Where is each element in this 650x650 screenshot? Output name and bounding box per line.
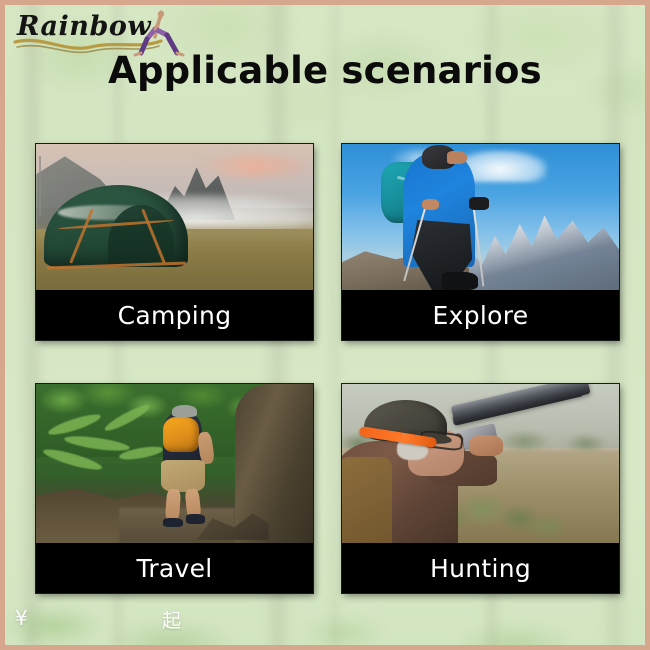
price-suffix: 起 bbox=[162, 606, 181, 633]
currency-symbol: ¥ bbox=[15, 606, 28, 630]
scenario-card-hunting[interactable]: Hunting bbox=[342, 384, 619, 593]
card-caption-explore: Explore bbox=[342, 290, 619, 340]
card-caption-hunting: Hunting bbox=[342, 543, 619, 593]
scenario-grid: Camping Explore bbox=[36, 144, 619, 593]
hunting-photo bbox=[342, 384, 619, 543]
scenario-card-camping[interactable]: Camping bbox=[36, 144, 313, 340]
scenario-card-explore[interactable]: Explore bbox=[342, 144, 619, 340]
camping-photo bbox=[36, 144, 313, 290]
travel-photo bbox=[36, 384, 313, 543]
card-caption-camping: Camping bbox=[36, 290, 313, 340]
card-caption-travel: Travel bbox=[36, 543, 313, 593]
scenario-card-travel[interactable]: Travel bbox=[36, 384, 313, 593]
page-title: Applicable scenarios bbox=[5, 49, 645, 92]
promo-banner: Rainbow Applicable scenarios bbox=[0, 0, 650, 650]
explore-photo bbox=[342, 144, 619, 290]
